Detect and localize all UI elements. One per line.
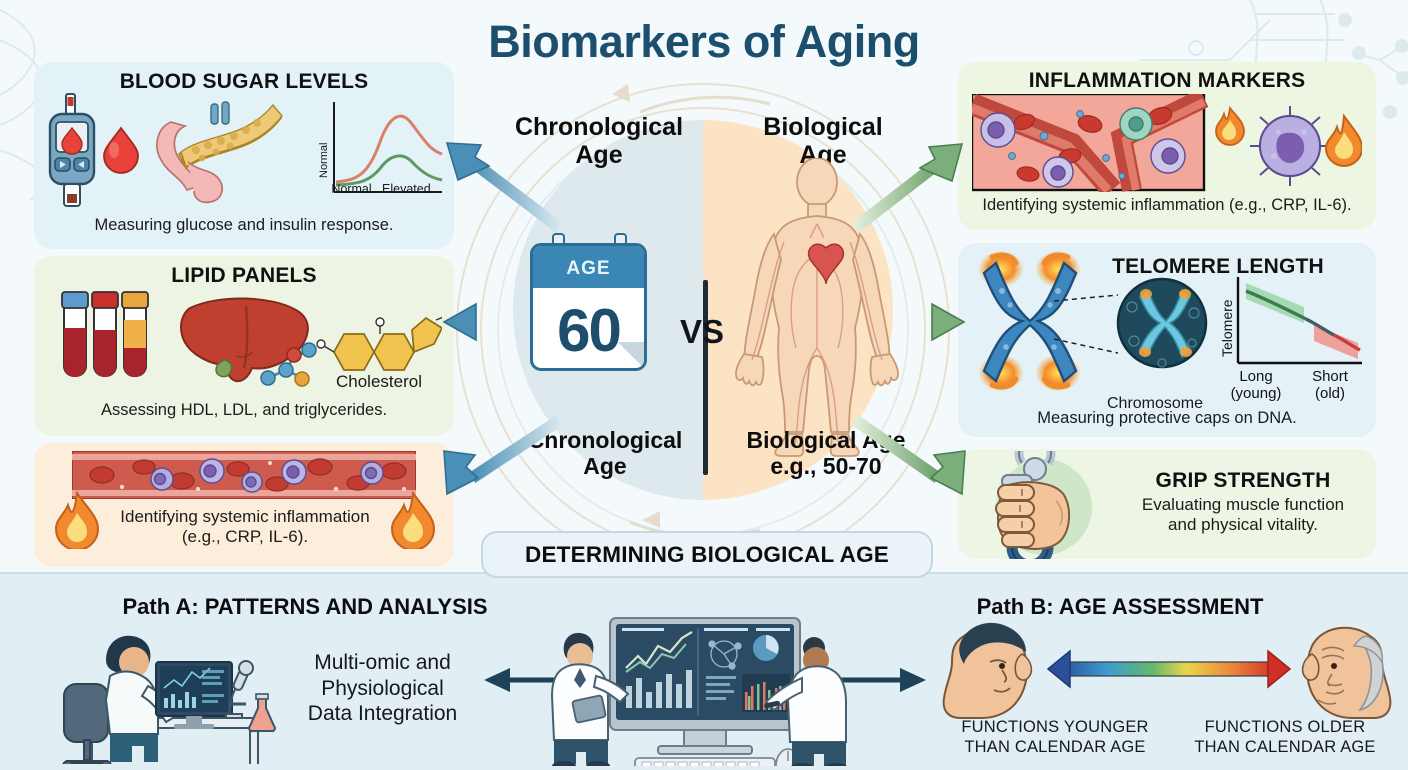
flame-icon-small-left (1216, 108, 1244, 145)
glucose-response-chart: Normal (318, 102, 442, 192)
dashboard-monitor-icon (610, 618, 800, 754)
glucometer-icon (50, 94, 94, 206)
panel-grip-strength[interactable]: GRIP STRENGTH Evaluating muscle function… (958, 449, 1376, 559)
tick-short: Short (old) (1294, 369, 1366, 402)
svg-text:Telomere: Telomere (1219, 299, 1235, 357)
arrow-right-bottom (838, 668, 926, 692)
pancreas-icon (157, 102, 282, 202)
panel-lipid-panels[interactable]: LIPID PANELS (34, 256, 454, 436)
flame-icon-small-right (1326, 116, 1362, 166)
calendar-body: AGE 60 (530, 243, 647, 371)
determining-biological-age-banner: DETERMINING BIOLOGICAL AGE (481, 531, 933, 578)
path-a-subtitle: Multi-omic and Physiological Data Integr… (275, 650, 490, 727)
calendar-widget[interactable]: AGE 60 (530, 243, 647, 371)
caption-functions-younger: FUNCTIONS YOUNGER THAN CALENDAR AGE (920, 718, 1190, 758)
label-biological-age-bottom: Biological Age e.g., 50-70 (716, 428, 936, 480)
panel-title: GRIP STRENGTH (1118, 469, 1368, 493)
label-chronological-age-top: Chronological Age (490, 114, 708, 169)
panel-title: BLOOD SUGAR LEVELS (34, 70, 454, 94)
chair-icon (63, 684, 111, 764)
cell-nucleus-icon (1118, 279, 1206, 367)
panel-title: LIPID PANELS (34, 264, 454, 288)
panel-caption: Identifying systemic inflammation (e.g.,… (90, 507, 400, 547)
page-title: Biomarkers of Aging (0, 16, 1408, 68)
flask-icon (249, 694, 275, 731)
age-assessment-artwork (930, 614, 1408, 724)
cholesterol-structure-icon (334, 318, 442, 370)
panel-telomere-length[interactable]: TELOMERE LENGTH (958, 243, 1376, 437)
keyboard-icon (635, 758, 775, 766)
blood-drop-icon (104, 128, 138, 173)
infographic-root: Biomarkers of Aging (0, 0, 1408, 768)
grip-text-block: GRIP STRENGTH Evaluating muscle function… (1118, 469, 1368, 535)
blood-vessel-artwork (72, 451, 416, 499)
caption-functions-older: FUNCTIONS OLDER THAN CALENDAR AGE (1160, 718, 1408, 758)
old-face-icon (1303, 628, 1391, 718)
test-tubes-icon (62, 292, 148, 377)
path-b-title: Path B: AGE ASSESSMENT (870, 594, 1370, 620)
inflammation-artwork (972, 94, 1362, 192)
cholesterol-label: Cholesterol (314, 372, 444, 392)
path-a-title: Path A: PATTERNS AND ANALYSIS (55, 594, 555, 620)
researcher-desk-artwork (40, 614, 280, 764)
center-comparison: Chronological Age Biological Age AGE 60 … (468, 95, 938, 565)
panel-caption: Measuring glucose and insulin response. (34, 216, 454, 235)
xtick-normal: Normal (331, 182, 371, 196)
blood-chart-xticks: Normal Elevated (321, 182, 441, 196)
vs-label: VS (680, 313, 724, 351)
calendar-page-fold (618, 342, 644, 368)
panel-inflammation-markers[interactable]: INFLAMMATION MARKERS (958, 62, 1376, 230)
grip-strength-artwork (972, 451, 1122, 559)
banner-label: DETERMINING BIOLOGICAL AGE (525, 542, 889, 568)
analysis-team-artwork (480, 614, 930, 766)
panel-title: INFLAMMATION MARKERS (958, 69, 1376, 93)
calendar-label: AGE (533, 246, 644, 288)
panel-caption: Evaluating muscle function and physical … (1118, 495, 1368, 535)
panel-caption: Measuring protective caps on DNA. (958, 409, 1376, 428)
panel-blood-sugar-levels[interactable]: BLOOD SUGAR LEVELS (34, 62, 454, 249)
panel-caption: Identifying systemic inflammation (e.g.,… (958, 196, 1376, 215)
macrophage-icon (1250, 106, 1330, 186)
svg-text:Normal: Normal (318, 143, 330, 178)
telomere-trend-chart: Telomere (1219, 277, 1362, 363)
panel-inflammation-left[interactable]: Identifying systemic inflammation (e.g.,… (34, 443, 454, 567)
young-face-icon (944, 623, 1032, 718)
tick-long: Long (young) (1220, 369, 1292, 402)
panel-caption: Assessing HDL, LDL, and triglycerides. (34, 401, 454, 420)
age-spectrum-arrow (1048, 651, 1290, 687)
chromosome-icon (979, 251, 1080, 391)
human-body-icon (722, 158, 912, 458)
label-chronological-age-bottom: Chronological Age (490, 428, 720, 480)
xtick-elevated: Elevated (382, 182, 431, 196)
hand-icon (996, 482, 1069, 549)
micrograph-image (972, 94, 1204, 190)
